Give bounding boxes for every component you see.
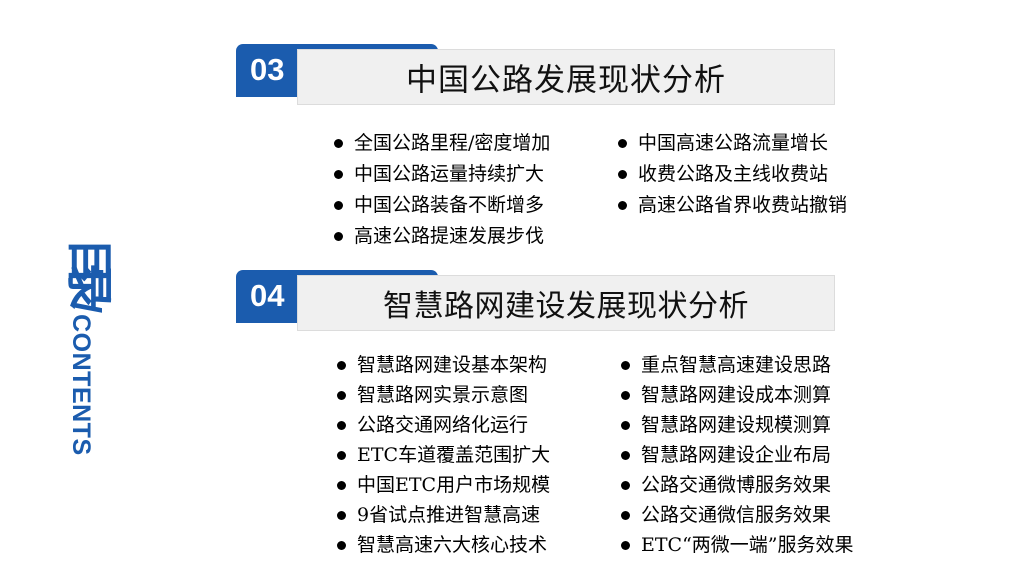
bullet-dot-icon <box>618 139 627 148</box>
bullet-dot-icon <box>337 391 346 400</box>
toc-vertical-label: 目录/CONTENTS <box>65 238 112 456</box>
bullet-dot-icon <box>337 421 346 430</box>
list-item[interactable]: 智慧路网建设基本架构 <box>337 350 550 380</box>
bullet-dot-icon <box>621 361 630 370</box>
section-title-bar-04: 智慧路网建设发展现状分析 <box>297 275 835 331</box>
bullet-dot-icon <box>621 541 630 550</box>
list-item[interactable]: 中国公路运量持续扩大 <box>334 159 550 190</box>
list-item[interactable]: 智慧路网建设企业布局 <box>621 440 854 470</box>
list-item-label: 公路交通网络化运行 <box>357 416 528 435</box>
list-item-label: ETC“两微一端”服务效果 <box>641 536 854 555</box>
list-item-label: 中国ETC用户市场规模 <box>357 476 550 495</box>
bullet-dot-icon <box>334 201 343 210</box>
list-item[interactable]: 中国高速公路流量增长 <box>618 128 847 159</box>
list-item-label: 高速公路提速发展步伐 <box>354 227 544 246</box>
bullet-dot-icon <box>337 361 346 370</box>
list-item[interactable]: 收费公路及主线收费站 <box>618 159 847 190</box>
section-04-right-column: 重点智慧高速建设思路 智慧路网建设成本测算 智慧路网建设规模测算 智慧路网建设企… <box>621 350 854 560</box>
bullet-dot-icon <box>621 451 630 460</box>
bullet-dot-icon <box>621 481 630 490</box>
slide-canvas: 目录/CONTENTS 03 中国公路发展现状分析 全国公路里程/密度增加 中国… <box>0 0 1024 576</box>
list-item-label: 中国公路运量持续扩大 <box>354 165 544 184</box>
bullet-dot-icon <box>337 511 346 520</box>
list-item[interactable]: 全国公路里程/密度增加 <box>334 128 550 159</box>
section-title-04: 智慧路网建设发展现状分析 <box>298 281 834 325</box>
list-item-label: 智慧路网实景示意图 <box>357 386 528 405</box>
list-item[interactable]: 智慧高速六大核心技术 <box>337 530 550 560</box>
list-item-label: 中国公路装备不断增多 <box>354 196 544 215</box>
section-04-left-column: 智慧路网建设基本架构 智慧路网实景示意图 公路交通网络化运行 ETC车道覆盖范围… <box>337 350 550 560</box>
bullet-dot-icon <box>337 541 346 550</box>
list-item[interactable]: ETC“两微一端”服务效果 <box>621 530 854 560</box>
section-03-right-column: 中国高速公路流量增长 收费公路及主线收费站 高速公路省界收费站撤销 <box>618 128 847 221</box>
list-item[interactable]: 公路交通微博服务效果 <box>621 470 854 500</box>
toc-label-en: CONTENTS <box>68 314 93 456</box>
section-block-03: 03 中国公路发展现状分析 全国公路里程/密度增加 中国公路运量持续扩大 中国公… <box>236 44 856 234</box>
list-item[interactable]: 智慧路网建设成本测算 <box>621 380 854 410</box>
section-title-03: 中国公路发展现状分析 <box>298 55 834 100</box>
list-item-label: 重点智慧高速建设思路 <box>641 356 831 375</box>
list-item-label: 高速公路省界收费站撤销 <box>638 196 847 215</box>
list-item-label: 中国高速公路流量增长 <box>638 134 828 153</box>
bullet-dot-icon <box>621 421 630 430</box>
list-item-label: 9省试点推进智慧高速 <box>357 506 540 525</box>
section-number-label-03: 03 <box>250 51 284 89</box>
bullet-dot-icon <box>337 451 346 460</box>
bullet-dot-icon <box>618 170 627 179</box>
toc-label-cn: 目录 <box>65 238 112 288</box>
bullet-dot-icon <box>334 170 343 179</box>
bullet-dot-icon <box>618 201 627 210</box>
list-item-label: 智慧路网建设企业布局 <box>641 446 831 465</box>
list-item-label: 智慧路网建设成本测算 <box>641 386 831 405</box>
list-item[interactable]: 9省试点推进智慧高速 <box>337 500 550 530</box>
list-item-label: 公路交通微信服务效果 <box>641 506 831 525</box>
section-03-left-column: 全国公路里程/密度增加 中国公路运量持续扩大 中国公路装备不断增多 高速公路提速… <box>334 128 550 252</box>
bullet-dot-icon <box>334 232 343 241</box>
list-item-label: 智慧路网建设基本架构 <box>357 356 547 375</box>
toc-label-separator: / <box>66 302 106 313</box>
list-item-label: 智慧路网建设规模测算 <box>641 416 831 435</box>
list-item[interactable]: 公路交通网络化运行 <box>337 410 550 440</box>
section-title-bar-03: 中国公路发展现状分析 <box>297 49 835 105</box>
list-item-label: 收费公路及主线收费站 <box>638 165 828 184</box>
bullet-dot-icon <box>334 139 343 148</box>
list-item[interactable]: 中国ETC用户市场规模 <box>337 470 550 500</box>
list-item[interactable]: 智慧路网实景示意图 <box>337 380 550 410</box>
list-item[interactable]: 重点智慧高速建设思路 <box>621 350 854 380</box>
bullet-dot-icon <box>621 511 630 520</box>
list-item[interactable]: 公路交通微信服务效果 <box>621 500 854 530</box>
list-item-label: 智慧高速六大核心技术 <box>357 536 547 555</box>
list-item[interactable]: 智慧路网建设规模测算 <box>621 410 854 440</box>
list-item[interactable]: 高速公路提速发展步伐 <box>334 221 550 252</box>
list-item-label: 公路交通微博服务效果 <box>641 476 831 495</box>
bullet-dot-icon <box>621 391 630 400</box>
section-block-04: 04 智慧路网建设发展现状分析 智慧路网建设基本架构 智慧路网实景示意图 公路交… <box>236 270 856 570</box>
list-item[interactable]: 高速公路省界收费站撤销 <box>618 190 847 221</box>
list-item[interactable]: ETC车道覆盖范围扩大 <box>337 440 550 470</box>
toc-sidebar: 目录/CONTENTS <box>0 0 220 576</box>
list-item-label: ETC车道覆盖范围扩大 <box>357 446 550 465</box>
section-number-label-04: 04 <box>250 277 284 315</box>
list-item[interactable]: 中国公路装备不断增多 <box>334 190 550 221</box>
section-header-04: 04 智慧路网建设发展现状分析 <box>236 270 856 332</box>
bullet-dot-icon <box>337 481 346 490</box>
list-item-label: 全国公路里程/密度增加 <box>354 134 550 153</box>
section-header-03: 03 中国公路发展现状分析 <box>236 44 856 106</box>
